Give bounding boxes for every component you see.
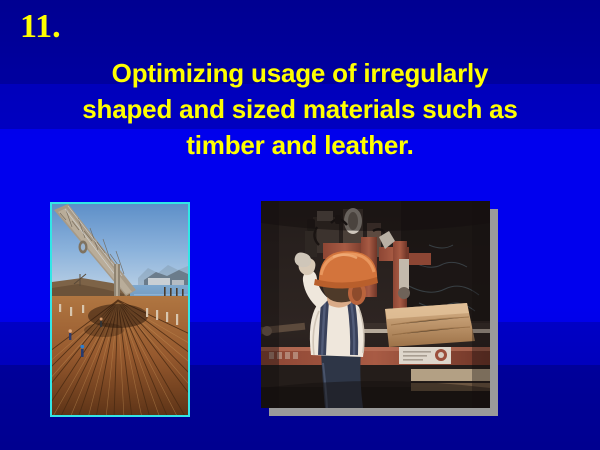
title-line-2: shaped and sized materials such as	[28, 91, 572, 127]
title-line-3: timber and leather.	[28, 127, 572, 163]
slide-title: Optimizing usage of irregularly shaped a…	[28, 55, 572, 163]
sawmill-worker-photo	[261, 201, 490, 408]
title-line-1: Optimizing usage of irregularly	[28, 55, 572, 91]
slide-canvas: 11. Optimizing usage of irregularly shap…	[0, 0, 600, 450]
slide-number: 11.	[20, 8, 61, 46]
timber-barge-illustration	[52, 204, 188, 415]
sawmill-worker-photo-frame	[261, 201, 490, 408]
sawmill-worker-illustration	[261, 201, 490, 408]
timber-barge-photo	[50, 202, 190, 417]
